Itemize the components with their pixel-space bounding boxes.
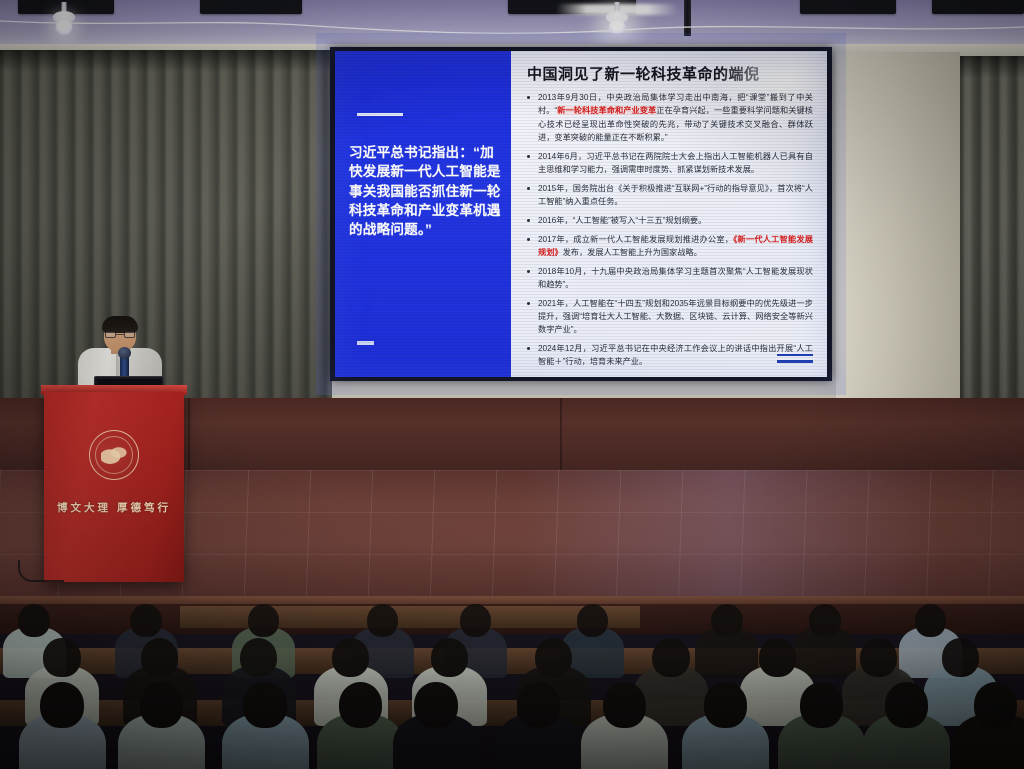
curtain-fabric xyxy=(0,50,332,402)
lecture-hall-scene: 习近平总书记指出：“加快发展新一代人工智能是事关我国能否抓住新一轮科技革命和产业… xyxy=(0,0,1024,769)
bullet-text: 2021年，人工智能在“十四五”规划和2035年远景目标纲要中的优先级进一步提升… xyxy=(538,299,813,335)
audience-head xyxy=(704,682,747,728)
ceiling-lamp xyxy=(604,2,630,38)
audience-member xyxy=(118,682,209,769)
floor-cable xyxy=(18,560,64,582)
audience-head xyxy=(603,682,646,728)
audience-head xyxy=(332,638,369,677)
bullet-text: 发布，发展人工智能上升为国家战略。 xyxy=(563,248,702,257)
slide-bullet-item: 2015年，国务院出台《关于积极推进“互联网+”行动的指导意见》，首次将“人工智… xyxy=(525,182,813,209)
stage-curtain-right xyxy=(960,56,1024,404)
slide-bullet-item: 2016年，“人工智能”被写入“十三五”规划纲要。 xyxy=(525,214,813,227)
slide-bullet-item: 2021年，人工智能在“十四五”规划和2035年远景目标纲要中的优先级进一步提升… xyxy=(525,297,813,337)
wall-seam xyxy=(560,398,562,480)
glasses-icon xyxy=(105,331,135,338)
audience-head xyxy=(800,682,843,728)
audience-member xyxy=(863,682,954,769)
ceiling-panel xyxy=(200,0,302,14)
wall-seam xyxy=(188,398,190,480)
audience-head xyxy=(460,604,492,637)
audience-member xyxy=(682,682,773,769)
slide-bullet-item: 2024年12月，习近平总书记在中央经济工作会议上的讲话中指出开展“人工智能＋”… xyxy=(525,342,813,369)
led-display-screen[interactable]: 习近平总书记指出：“加快发展新一代人工智能是事关我国能否抓住新一轮科技革命和产业… xyxy=(330,47,832,381)
audience-head xyxy=(18,604,50,637)
ceiling xyxy=(0,0,1024,48)
bullet-text: 2017年，成立新一代人工智能发展规划推进办公室， xyxy=(538,235,733,244)
slide-left-panel: 习近平总书记指出：“加快发展新一代人工智能是事关我国能否抓住新一轮科技革命和产业… xyxy=(335,51,511,377)
audience-head xyxy=(141,638,178,677)
audience-head xyxy=(915,604,947,637)
audience-head xyxy=(885,682,928,728)
audience-head xyxy=(339,682,382,728)
audience-head xyxy=(140,682,183,728)
bullet-text: 2024年12月，习近平总书记在中央经济工作会议上的讲话中指出开展“人工智能＋”… xyxy=(538,344,813,366)
audience-member xyxy=(222,682,313,769)
audience-head xyxy=(809,604,841,637)
audience-head xyxy=(577,604,609,637)
ceiling-lamp xyxy=(51,2,77,38)
slide-title: 中国洞见了新一轮科技革命的端倪 xyxy=(525,63,813,84)
ceiling-rod xyxy=(684,0,691,36)
audience-head xyxy=(130,604,162,637)
slide-quote: 习近平总书记指出：“加快发展新一代人工智能是事关我国能否抓住新一轮科技革命和产业… xyxy=(349,143,501,239)
accent-line-bottom xyxy=(357,341,374,345)
screen-content: 习近平总书记指出：“加快发展新一代人工智能是事关我国能否抓住新一轮科技革命和产业… xyxy=(335,51,827,377)
ceiling-wire xyxy=(0,17,1024,37)
slide-bullet-list: 2013年9月30日，中央政治局集体学习走出中南海，把“课堂”搬到了中关村。“新… xyxy=(525,91,813,369)
wall-pillar-right xyxy=(836,52,960,402)
audience-member xyxy=(952,682,1024,769)
audience-head xyxy=(43,638,80,677)
audience-member xyxy=(393,682,484,769)
bullet-text: 2018年10月，十九届中央政治局集体学习主题首次聚焦“人工智能发展现状和趋势”… xyxy=(538,267,813,289)
curtain-fabric xyxy=(960,56,1024,404)
audience-head xyxy=(243,682,286,728)
ceiling-panel xyxy=(800,0,896,14)
podium-motto: 博文大理 厚德笃行 xyxy=(44,500,184,515)
audience-member xyxy=(19,682,110,769)
university-seal-icon xyxy=(89,430,139,480)
curtain-shadow xyxy=(960,56,1024,78)
slide-bullet-item: 2014年6月，习近平总书记在两院院士大会上指出人工智能机器人已具有自主思维和学… xyxy=(525,150,813,177)
audience-head xyxy=(367,604,399,637)
audience-member xyxy=(778,682,869,769)
bullet-highlight: 新一轮科技革命和产业变革 xyxy=(557,106,656,115)
slide-bullet-item: 2018年10月，十九届中央政治局集体学习主题首次聚焦“人工智能发展现状和趋势”… xyxy=(525,265,813,292)
audience-head xyxy=(942,638,979,677)
audience-head xyxy=(711,604,743,637)
bullet-text: 2015年，国务院出台《关于积极推进“互联网+”行动的指导意见》，首次将“人工智… xyxy=(538,184,813,206)
slide-bullet-item: 2017年，成立新一代人工智能发展规划推进办公室，《新一代人工智能发展规划》发布… xyxy=(525,233,813,260)
slide-decoration-bars xyxy=(777,354,813,366)
accent-line-top xyxy=(357,113,403,116)
audience-member xyxy=(581,682,672,769)
audience-head xyxy=(431,638,468,677)
audience-head xyxy=(974,682,1017,728)
audience-head xyxy=(414,682,457,728)
podium-lectern: 博文大理 厚德笃行 xyxy=(44,392,184,582)
audience-head xyxy=(248,604,280,637)
audience-head xyxy=(40,682,83,728)
lamp-bulb xyxy=(609,19,626,35)
bullet-text: 2014年6月，习近平总书记在两院院士大会上指出人工智能机器人已具有自主思维和学… xyxy=(538,152,813,174)
audience-head xyxy=(517,682,560,728)
bullet-text: 2016年，“人工智能”被写入“十三五”规划纲要。 xyxy=(538,216,706,225)
audience-head xyxy=(240,638,277,677)
slide-bullet-item: 2013年9月30日，中央政治局集体学习走出中南海，把“课堂”搬到了中关村。“新… xyxy=(525,91,813,144)
stage-curtain-left xyxy=(0,50,332,402)
floor-light-sheen xyxy=(520,470,940,605)
curtain-shadow xyxy=(0,50,332,72)
ceiling-panel xyxy=(932,0,1024,14)
lamp-bulb xyxy=(56,19,73,35)
audience-member xyxy=(495,682,586,769)
audience-head xyxy=(860,638,897,677)
audience-seating xyxy=(0,596,1024,769)
audience-head xyxy=(535,638,572,677)
slide-right-panel: 中国洞见了新一轮科技革命的端倪 2013年9月30日，中央政治局集体学习走出中南… xyxy=(511,51,827,377)
audience-head xyxy=(759,638,796,677)
audience-head xyxy=(652,638,689,677)
